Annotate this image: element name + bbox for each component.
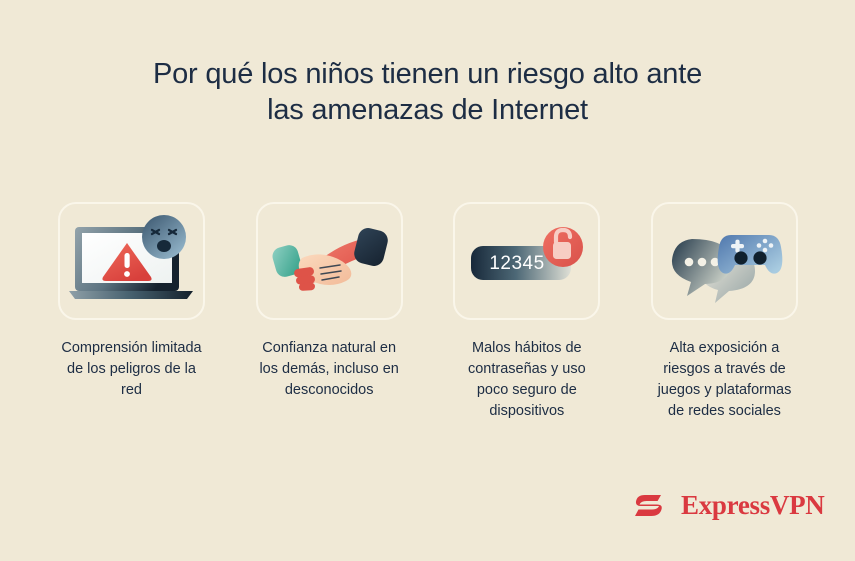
risk-card-1: Comprensión limitada de los peligros de … — [58, 202, 205, 422]
risk-cards-row: Comprensión limitada de los peligros de … — [58, 202, 798, 422]
laptop-warning-sad-face-icon — [67, 211, 197, 311]
icon-card-laptop-warning — [58, 202, 205, 320]
page-title-line-1: Por qué los niños tienen un riesgo alto … — [0, 56, 855, 92]
risk-card-4: Alta exposición a riesgos a través de ju… — [651, 202, 798, 422]
page-title-line-2: las amenazas de Internet — [0, 92, 855, 128]
risk-card-3-caption: Malos hábitos de contraseñas y uso poco … — [451, 338, 603, 422]
handshake-icon — [264, 211, 394, 311]
icon-card-weak-password: 12345 — [453, 202, 600, 320]
weak-password-unlocked-icon: 12345 — [462, 211, 592, 311]
chat-bubble-game-controller-icon — [659, 211, 789, 311]
icon-card-handshake — [256, 202, 403, 320]
risk-card-2: Confianza natural en los demás, incluso … — [256, 202, 403, 422]
expressvpn-logo: ExpressVPN — [630, 485, 825, 525]
risk-card-1-caption: Comprensión limitada de los peligros de … — [56, 338, 208, 401]
risk-card-3: 12345 Malos hábitos de contraseñas y uso… — [453, 202, 600, 422]
expressvpn-e-mark-icon — [630, 485, 670, 525]
icon-card-chat-gaming — [651, 202, 798, 320]
page-title: Por qué los niños tienen un riesgo alto … — [0, 56, 855, 128]
expressvpn-wordmark: ExpressVPN — [681, 490, 825, 521]
password-value: 12345 — [489, 253, 544, 274]
risk-card-4-caption: Alta exposición a riesgos a través de ju… — [648, 338, 800, 422]
risk-card-2-caption: Confianza natural en los demás, incluso … — [253, 338, 405, 401]
